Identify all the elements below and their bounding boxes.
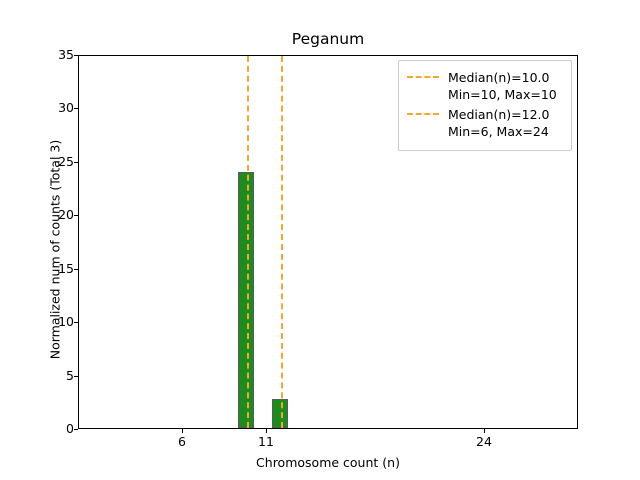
x-tick-label: 6 <box>152 434 212 449</box>
legend-sublabel: Min=10, Max=10 <box>407 86 563 104</box>
legend-row: Median(n)=12.0 <box>407 105 563 123</box>
y-tick-label: 10 <box>0 316 74 328</box>
x-tick-label: 11 <box>236 434 296 449</box>
bar-n10 <box>238 172 254 428</box>
median-vline-12 <box>281 56 283 428</box>
legend-label: Median(n)=10.0 <box>448 70 549 85</box>
y-axis-label-text: Normalized num of counts (Total 3) <box>48 140 63 360</box>
legend-label: Median(n)=12.0 <box>448 107 549 122</box>
dashed-line-icon <box>407 76 439 78</box>
x-tick-label: 24 <box>454 434 514 449</box>
y-tick-label: 20 <box>0 209 74 221</box>
x-tick-mark <box>484 429 485 433</box>
legend[interactable]: Median(n)=10.0 Min=10, Max=10 Median(n)=… <box>398 60 572 151</box>
x-tick-mark <box>182 429 183 433</box>
y-tick-mark <box>74 429 78 430</box>
y-tick-label: 35 <box>0 49 74 61</box>
legend-row: Median(n)=10.0 <box>407 68 563 86</box>
legend-sublabel: Min=6, Max=24 <box>407 123 563 141</box>
y-tick-label: 0 <box>0 423 74 435</box>
legend-entry: Median(n)=10.0 Min=10, Max=10 <box>407 68 563 104</box>
y-tick-label: 15 <box>0 263 74 275</box>
figure-canvas: Peganum 0 5 10 15 20 25 30 35 Normalized… <box>0 0 640 480</box>
y-axis-label: Normalized num of counts (Total 3) <box>48 60 63 440</box>
y-tick-label: 25 <box>0 156 74 168</box>
x-axis-label: Chromosome count (n) <box>78 455 578 470</box>
x-tick-mark <box>266 429 267 433</box>
y-tick-label: 30 <box>0 102 74 114</box>
y-tick-label: 5 <box>0 370 74 382</box>
dashed-line-icon <box>407 113 439 115</box>
page-title: Peganum <box>78 30 578 48</box>
legend-entry: Median(n)=12.0 Min=6, Max=24 <box>407 105 563 141</box>
bar-n12 <box>272 399 288 428</box>
median-vline-10 <box>247 56 249 428</box>
